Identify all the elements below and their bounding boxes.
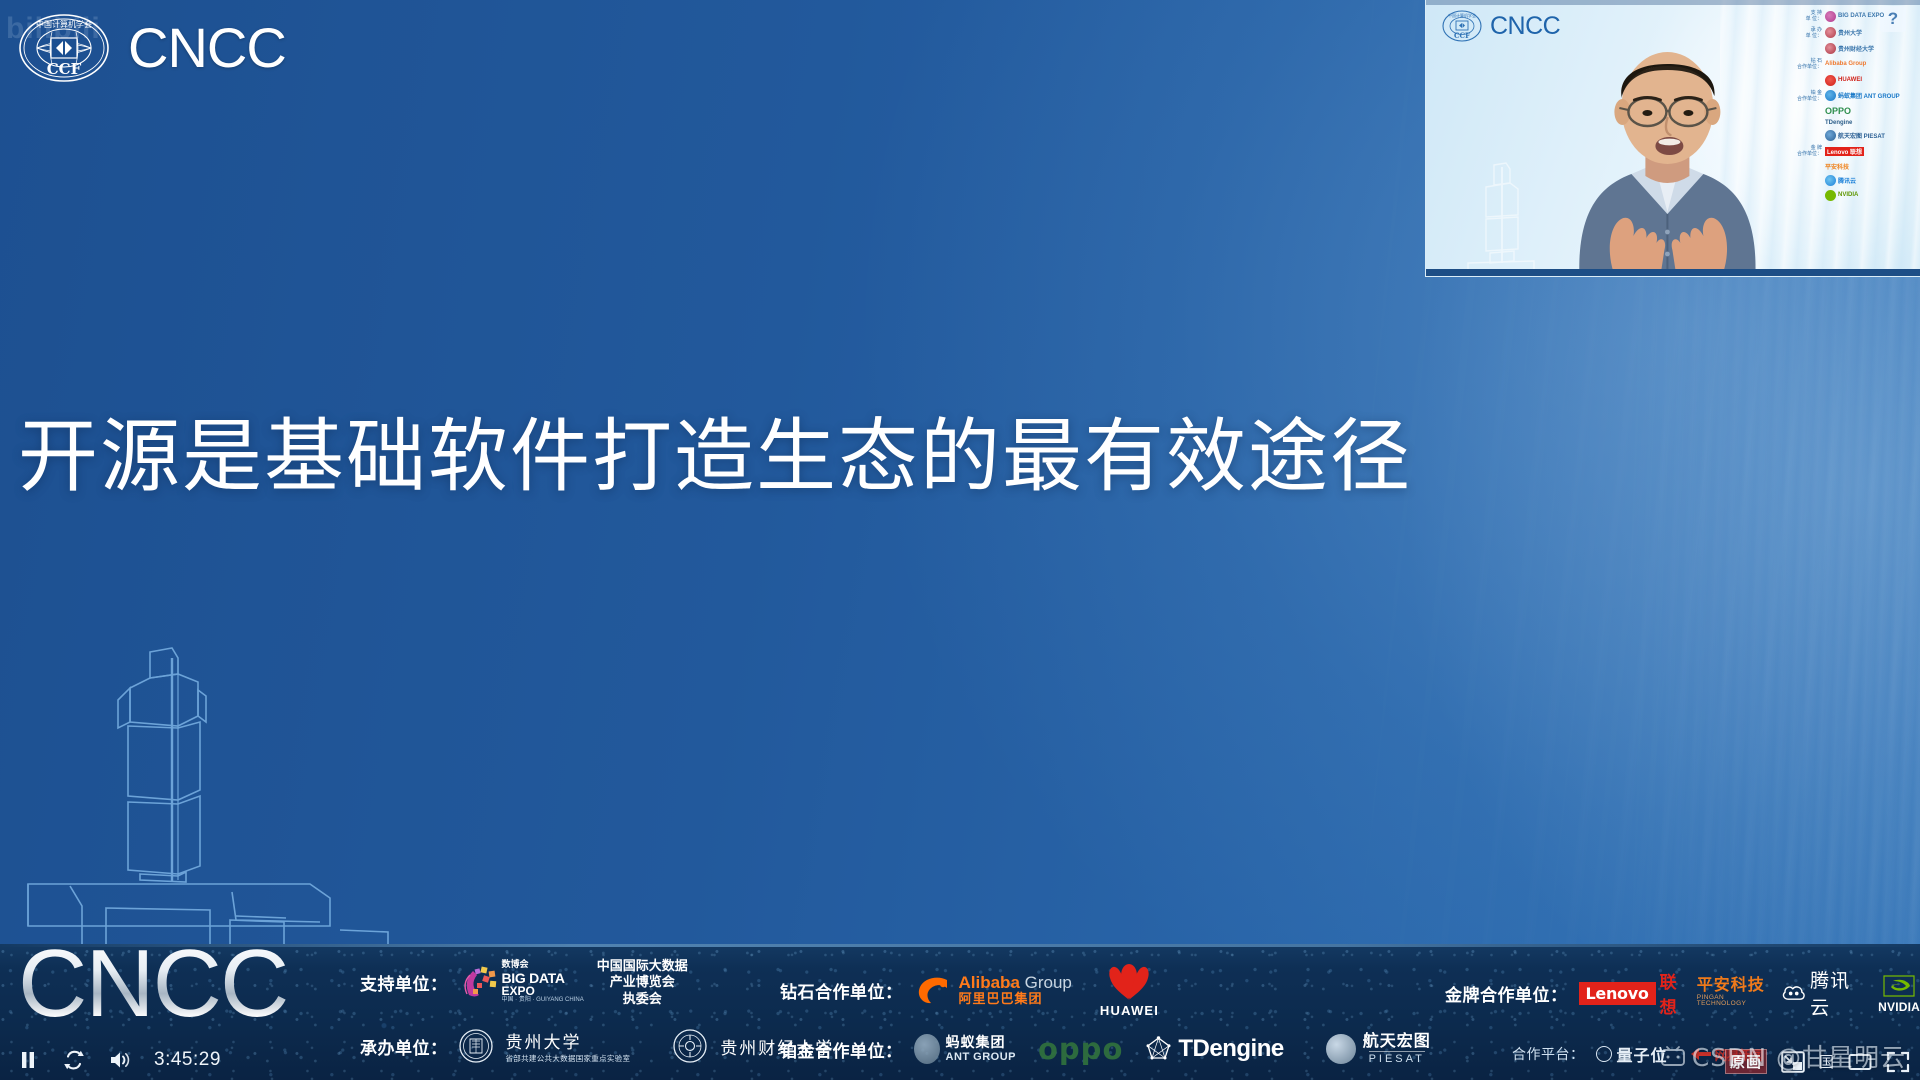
pip-pingan-text: 平安科技	[1825, 162, 1849, 171]
huawei-wordmark: HUAWEI	[1100, 1003, 1159, 1018]
guizhou-university-lab: 省部共建公共大数据国家重点实验室	[506, 1053, 631, 1064]
pip-logo-bigdata-expo: BIG DATA EXPO	[1825, 11, 1884, 22]
pip-sponsor-row: 贵州财经大学	[1796, 43, 1914, 54]
piesat-en: PIESAT	[1369, 1051, 1425, 1065]
volume-icon[interactable]	[108, 1048, 132, 1072]
pip-sponsor-row: 支 持 单 位： BIG DATA EXPO	[1796, 10, 1914, 23]
logo-tencent-cloud: 腾讯云	[1782, 966, 1862, 1020]
pip-sponsor-row: 铂 金 合作单位： 蚂蚁集团 ANT GROUP	[1796, 90, 1914, 103]
slide-headline: 开源是基础软件打造生态的最有效途径	[0, 392, 1430, 508]
sponsor-label-organizer: 承办单位：	[360, 1034, 448, 1059]
pip-huawei-flower-icon	[1825, 75, 1836, 86]
video-player-stage: bilibili 中国计算机学会 CCF CNCC	[0, 0, 1920, 1080]
pip-logo-alibaba: Alibaba Group	[1825, 61, 1866, 67]
logo-alibaba: Alibaba Group 阿里巴巴集团	[914, 973, 1072, 1007]
logo-qbitai: 量子位	[1596, 1042, 1668, 1066]
svg-text:CCF: CCF	[1454, 31, 1470, 40]
pip-gzufe-seal-icon	[1825, 43, 1836, 54]
qbitai-ring-icon	[1596, 1046, 1612, 1062]
picture-in-picture-icon[interactable]	[1781, 1051, 1805, 1073]
logo-guizhou-university: 贵州大学 省部共建公共大数据国家重点实验室	[506, 1028, 631, 1064]
pip-logo-guizhou-university: 贵州大学	[1825, 27, 1862, 38]
cncc-wordmark: CNCC	[128, 20, 286, 76]
nvidia-wordmark: NVIDIA	[1878, 1000, 1920, 1014]
pingan-en: PINGAN TECHNOLOGY	[1697, 995, 1766, 1009]
fullscreen-icon[interactable]	[1886, 1051, 1910, 1073]
pip-gzufe-text: 贵州财经大学	[1838, 44, 1874, 53]
pip-sponsor-label: 承 办 单 位：	[1796, 27, 1822, 40]
strip-top-edge	[0, 944, 1920, 947]
logo-tdengine: TDengine	[1145, 1035, 1283, 1063]
svg-text:中国计算机学会: 中国计算机学会	[36, 19, 92, 29]
cncc-footer-wordmark: CNCC	[18, 944, 287, 1032]
logo-piesat: 航天宏图 PIESAT	[1326, 1033, 1431, 1065]
pip-tencent-text: 腾讯云	[1838, 176, 1856, 185]
pip-logo-ant-group: 蚂蚁集团 ANT GROUP	[1825, 90, 1900, 101]
pip-sponsor-row: TDengine	[1796, 120, 1914, 126]
sponsor-label-platinum: 铂金合作单位：	[780, 1037, 903, 1062]
player-right-controls: 原画 国	[1725, 1049, 1910, 1074]
alibaba-cn: 阿里巴巴集团	[959, 992, 1072, 1006]
tencent-cloud-cn: 腾讯云	[1810, 966, 1862, 1020]
pip-bottom-bar	[1426, 269, 1920, 276]
ccf-seal-icon: 中国计算机学会 CCF	[18, 12, 110, 84]
pip-gzu-text: 贵州大学	[1838, 28, 1862, 37]
pip-logo-guizhou-finance: 贵州财经大学	[1825, 43, 1874, 54]
pip-logo-pingan: 平安科技	[1825, 162, 1849, 171]
pip-top-bar	[1426, 0, 1920, 5]
pip-logo-huawei: HUAWEI	[1825, 75, 1862, 86]
svg-text:CCF: CCF	[47, 60, 82, 78]
pip-logo-oppo: OPPO	[1825, 106, 1851, 116]
pip-sponsor-row: NVIDIA	[1796, 190, 1914, 201]
sponsor-label-platform: 合作平台：	[1512, 1044, 1585, 1064]
pip-logo-piesat: 航天宏图 PIESAT	[1825, 130, 1885, 141]
pip-ccf-seal-icon: 中国计算机学会 CCF	[1442, 10, 1482, 42]
player-controls: 3:45:29	[16, 1048, 221, 1072]
pip-oppo-text: OPPO	[1825, 106, 1851, 116]
picture-in-picture-camera[interactable]: 中国计算机学会 CCF CNCC ?	[1425, 0, 1920, 277]
guizhou-university-seal-icon	[459, 1029, 493, 1063]
alibaba-mark-icon	[914, 973, 954, 1007]
pip-tdengine-text: TDengine	[1825, 120, 1852, 126]
pip-speaker-figure	[1527, 36, 1807, 276]
nvidia-eye-icon	[1882, 972, 1916, 1000]
sponsor-group-platinum: 铂金合作单位： 蚂蚁集团 ANT GROUP oppo	[780, 1032, 1431, 1066]
svg-text:中国计算机学会: 中国计算机学会	[1448, 12, 1476, 18]
guizhou-finance-university-seal-icon	[673, 1029, 707, 1063]
huawei-flower-icon	[1103, 962, 1155, 1002]
tdengine-wordmark: TDengine	[1178, 1035, 1283, 1063]
pip-sponsor-row: 腾讯云	[1796, 175, 1914, 186]
sponsor-footer-bar: CNCC 3:45:29 支持单位：	[0, 944, 1920, 1080]
alibaba-en-main: Alibaba	[959, 973, 1020, 992]
bigdata-expo-en-line1: BIG DATA	[502, 971, 584, 985]
pip-logo-nvidia: NVIDIA	[1825, 190, 1858, 201]
pip-nvidia-text: NVIDIA	[1838, 192, 1858, 198]
pip-sponsor-column: 支 持 单 位： BIG DATA EXPO 承 办 单 位： 贵州大学 贵州财…	[1796, 10, 1914, 201]
sponsor-label-gold: 金牌合作单位：	[1445, 981, 1568, 1006]
piesat-mark-icon	[1326, 1034, 1356, 1064]
pause-icon[interactable]	[16, 1048, 40, 1072]
slide-header-logos: 中国计算机学会 CCF CNCC	[18, 12, 286, 84]
tdengine-mark-icon	[1145, 1036, 1172, 1063]
logo-ant-group: 蚂蚁集团 ANT GROUP	[914, 1034, 1017, 1064]
pip-logo-tdengine: TDengine	[1825, 120, 1852, 126]
red-partner-icon	[1690, 1046, 1712, 1062]
bigdata-expo-cn-text: 中国国际大数据 产业博览会 执委会	[597, 958, 688, 1006]
pip-sponsor-row: OPPO	[1796, 106, 1914, 116]
pip-sponsor-row: HUAWEI	[1796, 75, 1914, 86]
pip-lenovo-text: Lenovo 联想	[1825, 147, 1864, 156]
sponsor-logos-supporting: 数博会 BIG DATA EXPO 中国 · 贵阳 · GUIYANG CHIN…	[459, 958, 688, 1007]
pip-logo-tencent-cloud: 腾讯云	[1825, 175, 1856, 186]
pip-tower-illustration	[1466, 157, 1536, 272]
tencent-cloud-icon	[1782, 981, 1805, 1006]
sponsor-group-supporting: 支持单位：	[360, 958, 688, 1007]
logo-bigdata-expo: 数博会 BIG DATA EXPO 中国 · 贵阳 · GUIYANG CHIN…	[459, 961, 584, 1003]
alibaba-en: Alibaba Group	[959, 974, 1072, 992]
logo-nvidia: NVIDIA	[1878, 972, 1920, 1014]
sponsor-logos-organizer: 贵州大学 省部共建公共大数据国家重点实验室 贵州财经大学	[459, 1028, 835, 1064]
logo-huawei: HUAWEI	[1100, 962, 1159, 1018]
pip-alibaba-text: Alibaba Group	[1825, 61, 1866, 67]
sponsor-group-diamond: 钻石合作单位： Alibaba Group 阿里巴巴集团	[780, 962, 1159, 1018]
ant-group-mark-icon	[914, 1034, 940, 1064]
piesat-cn: 航天宏图	[1363, 1033, 1431, 1051]
pingan-cn: 平安科技	[1697, 978, 1766, 995]
pip-gzu-seal-icon	[1825, 27, 1836, 38]
pip-sponsor-label: 金 牌 合作单位：	[1796, 145, 1822, 158]
sponsor-label-supporting: 支持单位：	[360, 970, 448, 995]
logo-bigdata-expo-cn: 中国国际大数据 产业博览会 执委会	[597, 958, 688, 1007]
sponsor-logos-diamond: Alibaba Group 阿里巴巴集团 HUAWEI	[914, 962, 1160, 1018]
guizhou-university-name: 贵州大学	[506, 1028, 631, 1053]
ant-group-en: ANT GROUP	[946, 1051, 1017, 1063]
lenovo-cn: 联想	[1660, 968, 1681, 1018]
ant-group-cn: 蚂蚁集团	[946, 1035, 1017, 1051]
bigdata-expo-en-line2: EXPO	[502, 985, 584, 997]
sponsor-group-organizer: 承办单位： 贵州大学 省部共建公共大数据国家重点实验室	[360, 1028, 834, 1064]
logo-pingan-technology: 平安科技 PINGAN TECHNOLOGY	[1697, 978, 1766, 1008]
logo-oppo: oppo	[1038, 1032, 1123, 1066]
pip-nvidia-eye-icon	[1825, 190, 1836, 201]
pip-sponsor-row: 钻 石 合作单位： Alibaba Group	[1796, 58, 1914, 71]
bigdata-expo-tagline: 中国 · 贵阳 · GUIYANG CHINA	[502, 997, 584, 1003]
sponsor-logos-gold: Lenovo 联想 平安科技 PINGAN TECHNOLOGY 腾讯云	[1579, 966, 1920, 1020]
cncc-tower-illustration	[10, 630, 390, 960]
pip-ant-text: 蚂蚁集团 ANT GROUP	[1838, 91, 1900, 100]
logo-lenovo: Lenovo 联想	[1579, 968, 1681, 1018]
pip-sponsor-row: 金 牌 合作单位： Lenovo 联想	[1796, 145, 1914, 158]
sponsor-label-diamond: 钻石合作单位：	[780, 978, 903, 1003]
playback-time: 3:45:29	[154, 1049, 221, 1071]
pip-tencent-cloud-icon	[1825, 175, 1836, 186]
pip-sponsor-label: 铂 金 合作单位：	[1796, 90, 1822, 103]
pip-sponsor-row: 航天宏图 PIESAT	[1796, 130, 1914, 141]
lenovo-en: Lenovo	[1579, 982, 1656, 1005]
sponsor-group-gold: 金牌合作单位： Lenovo 联想 平安科技 PINGAN TECHNOLOGY	[1445, 966, 1920, 1020]
pip-huawei-text: HUAWEI	[1838, 77, 1862, 83]
qbitai-cn: 量子位	[1617, 1042, 1668, 1066]
alibaba-en-group: Group	[1025, 973, 1072, 992]
pip-sponsor-row: 平安科技	[1796, 162, 1914, 171]
loop-icon[interactable]	[62, 1048, 86, 1072]
pip-sponsor-row: 承 办 单 位： 贵州大学	[1796, 27, 1914, 40]
pip-logo-lenovo: Lenovo 联想	[1825, 147, 1864, 156]
widescreen-icon[interactable]	[1848, 1051, 1872, 1073]
pip-sponsor-label: 支 持 单 位：	[1796, 10, 1822, 23]
quality-selector-button[interactable]: 原画	[1725, 1049, 1767, 1074]
pip-sponsor-label: 钻 石 合作单位：	[1796, 58, 1822, 71]
language-button[interactable]: 国	[1819, 1051, 1834, 1072]
sponsor-logos-platinum: 蚂蚁集团 ANT GROUP oppo TDengine	[914, 1032, 1431, 1066]
pip-piesat-text: 航天宏图 PIESAT	[1838, 131, 1885, 140]
pip-bigdata-text: BIG DATA EXPO	[1838, 13, 1884, 19]
pip-piesat-mark-icon	[1825, 130, 1836, 141]
pip-bigdata-mark-icon	[1825, 11, 1836, 22]
pip-ant-mark-icon	[1825, 90, 1836, 101]
